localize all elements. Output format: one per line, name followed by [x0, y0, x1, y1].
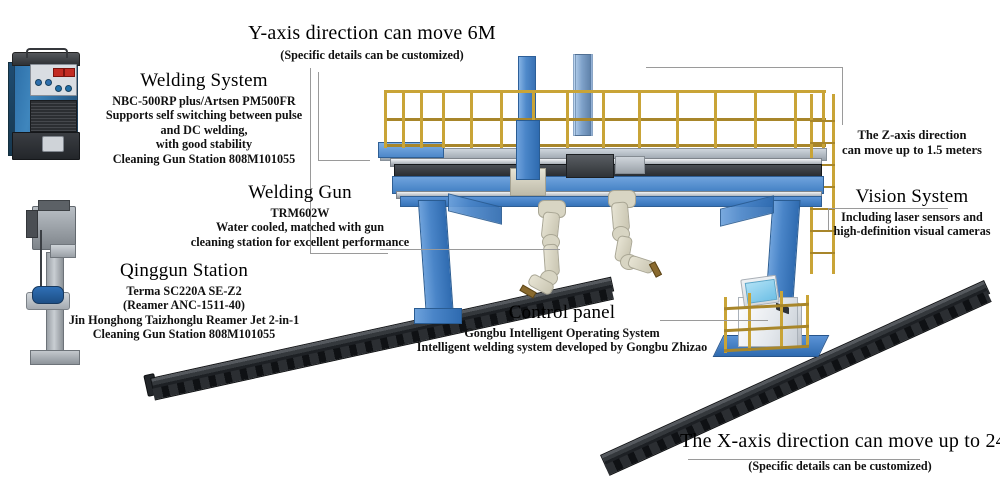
- leader-z-axis-vertical: [842, 67, 843, 125]
- railing-post: [638, 90, 641, 148]
- z-axis-column-right-shell: [573, 54, 593, 136]
- cleaning-station-base-plate: [30, 350, 80, 365]
- railing-post: [566, 90, 569, 148]
- callout-welding-system-sub-2: and DC welding,: [86, 123, 322, 137]
- welder-wire-feeder: [42, 136, 64, 152]
- callout-y-axis-sub-0: (Specific details can be customized): [232, 48, 512, 62]
- callout-welding-system-heading: Welding System: [86, 70, 322, 92]
- cabinet-rail-post: [748, 293, 751, 351]
- cabinet-rail-post: [780, 291, 783, 349]
- welder-handle: [26, 48, 68, 58]
- callout-welding-system-sub-0: NBC-500RP plus/Artsen PM500FR: [86, 94, 322, 108]
- callout-qinggun-station-heading: Qinggun Station: [38, 260, 330, 282]
- callout-welding-gun-sub-1: Water cooled, matched with gun: [160, 220, 440, 234]
- callout-qinggun-station-sub-0: Terma SC220A SE-Z2: [38, 284, 330, 298]
- operator-monitor: [740, 275, 780, 308]
- callout-welding-system: Welding System NBC-500RP plus/Artsen PM5…: [86, 70, 322, 166]
- callout-x-axis: The X-axis direction can move up to 24M …: [680, 430, 1000, 473]
- callout-welding-gun-heading: Welding Gun: [160, 182, 440, 204]
- railing-mid-rail: [384, 118, 826, 121]
- railing-bottom-rail: [384, 144, 826, 147]
- leader-z-axis-horizontal: [646, 67, 842, 68]
- callout-welding-gun-sub-2: cleaning station for excellent performan…: [160, 235, 440, 249]
- callout-qinggun-station-sub-3: Cleaning Gun Station 808M101055: [38, 327, 330, 341]
- ladder-rung: [810, 120, 835, 122]
- y-axis-carriage-right: [566, 154, 614, 178]
- railing-post: [714, 90, 717, 148]
- callout-control-panel-sub-0: Gongbu Intelligent Operating System: [392, 326, 732, 340]
- callout-welding-gun: Welding Gun TRM602W Water cooled, matche…: [160, 182, 440, 249]
- railing-post: [794, 90, 797, 148]
- callout-vision-system: Vision System Including laser sensors an…: [824, 186, 1000, 239]
- railing-post: [822, 90, 825, 148]
- callout-control-panel: Control panel Gongbu Intelligent Operati…: [392, 302, 732, 355]
- callout-qinggun-station-sub-1: (Reamer ANC-1511-40): [38, 298, 330, 312]
- callout-qinggun-station: Qinggun Station Terma SC220A SE-Z2 (Ream…: [38, 260, 330, 342]
- callout-welding-system-sub-3: with good stability: [86, 137, 322, 151]
- railing-post: [754, 90, 757, 148]
- callout-x-axis-heading: The X-axis direction can move up to 24M: [680, 430, 1000, 453]
- callout-y-axis-heading: Y-axis direction can move 6M: [232, 22, 512, 45]
- railing-post: [402, 90, 405, 148]
- callout-welding-system-sub-1: Supports self switching between pulse: [86, 108, 322, 122]
- welding-power-source-image: [8, 48, 86, 160]
- callout-welding-system-sub-4: Cleaning Gun Station 808M101055: [86, 152, 322, 166]
- callout-qinggun-station-sub-2: Jin Honghong Taizhonglu Reamer Jet 2-in-…: [38, 313, 330, 327]
- railing-post: [602, 90, 605, 148]
- leader-welding-system-horizontal: [318, 160, 370, 161]
- welder-vent-grille: [30, 100, 77, 132]
- ladder-rung: [810, 252, 835, 254]
- carriage-cover: [615, 156, 645, 174]
- railing-top-rail: [384, 90, 826, 93]
- callout-control-panel-sub-1: Intelligent welding system developed by …: [392, 340, 732, 354]
- cleaning-station-top-cap: [38, 200, 70, 211]
- leader-y-axis-horizontal: [310, 253, 388, 254]
- railing-post: [470, 90, 473, 148]
- callout-z-axis-sub-1: can move up to 1.5 meters: [826, 143, 998, 158]
- railing-post: [500, 90, 503, 148]
- welder-control-panel: [30, 64, 77, 96]
- welder-knob-2: [45, 79, 52, 86]
- welder-knob-4: [65, 85, 72, 92]
- railing-post: [420, 90, 423, 148]
- callout-vision-system-heading: Vision System: [824, 186, 1000, 208]
- railing-post: [676, 90, 679, 148]
- callout-vision-system-sub-0: Including laser sensors and: [824, 210, 1000, 224]
- callout-y-axis: Y-axis direction can move 6M (Specific d…: [232, 22, 512, 62]
- welding-torch-right: [649, 261, 662, 278]
- callout-vision-system-sub-1: high-definition visual cameras: [824, 224, 1000, 238]
- railing-post: [384, 90, 387, 148]
- welder-knob-1: [35, 79, 42, 86]
- callout-welding-gun-sub-0: TRM602W: [160, 206, 440, 220]
- diagram-canvas: Y-axis direction can move 6M (Specific d…: [0, 0, 1000, 498]
- welder-display-right: [64, 68, 75, 77]
- callout-z-axis-sub-0: The Z-axis direction: [826, 128, 998, 143]
- welder-knob-3: [55, 85, 62, 92]
- welder-display-left: [53, 68, 64, 77]
- railing-post: [442, 90, 445, 148]
- callout-control-panel-heading: Control panel: [392, 302, 732, 324]
- callout-z-axis: The Z-axis direction can move up to 1.5 …: [826, 128, 998, 158]
- cleaning-station-valve-block: [26, 210, 38, 238]
- cleaning-station-tray: [50, 244, 76, 258]
- callout-x-axis-sub-0: (Specific details can be customized): [680, 459, 1000, 473]
- z-axis-guide-left: [516, 120, 540, 180]
